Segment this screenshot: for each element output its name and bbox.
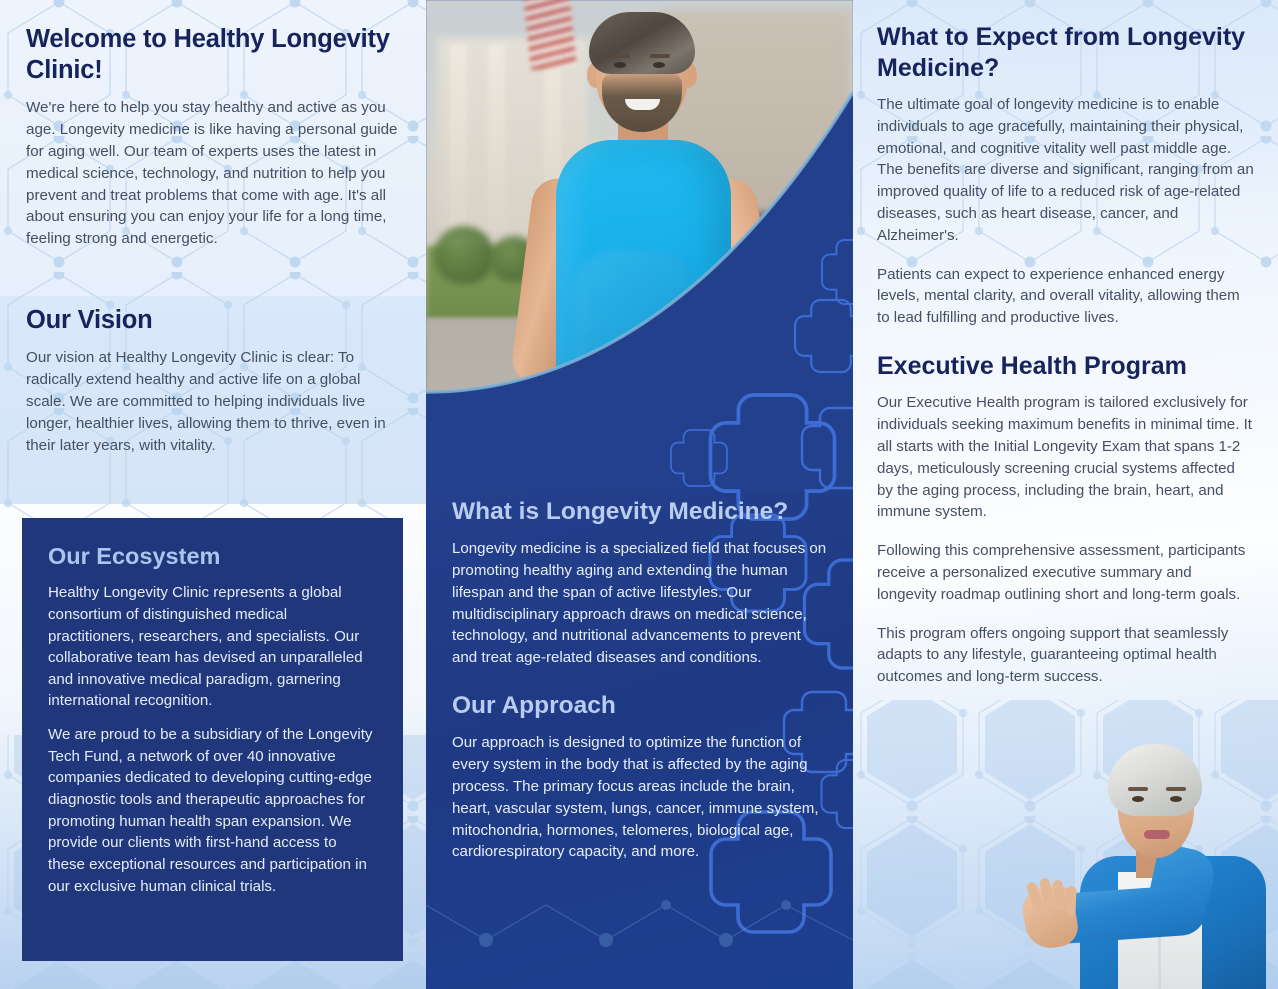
ecosystem-paragraph-2: We are proud to be a subsidiary of the L…: [48, 724, 377, 897]
woman-hair: [1108, 744, 1202, 816]
vision-body: Our vision at Healthy Longevity Clinic i…: [26, 347, 400, 457]
curved-photo-divider: [426, 0, 853, 520]
what-is-longevity-body: Longevity medicine is a specialized fiel…: [452, 538, 827, 669]
vision-heading: Our Vision: [26, 305, 400, 336]
what-is-longevity-heading: What is Longevity Medicine?: [452, 497, 827, 527]
executive-health-paragraph-1: Our Executive Health program is tailored…: [877, 392, 1254, 523]
executive-health-heading: Executive Health Program: [877, 351, 1254, 382]
executive-health-paragraph-3: This program offers ongoing support that…: [877, 623, 1254, 688]
woman-finger: [1052, 880, 1065, 911]
ecosystem-heading: Our Ecosystem: [48, 542, 377, 570]
what-to-expect-paragraph-2: Patients can expect to experience enhanc…: [877, 264, 1254, 329]
woman-eye: [1132, 796, 1144, 802]
panel-left: Welcome to Healthy Longevity Clinic! We'…: [0, 0, 426, 989]
what-to-expect-heading: What to Expect from Longevity Medicine?: [877, 22, 1254, 83]
senior-woman-photo: [1022, 744, 1278, 989]
ecosystem-paragraph-1: Healthy Longevity Clinic represents a gl…: [48, 582, 377, 712]
woman-lips: [1144, 830, 1170, 839]
panel-right: What to Expect from Longevity Medicine? …: [853, 0, 1278, 989]
section-welcome: Welcome to Healthy Longevity Clinic! We'…: [0, 0, 426, 250]
executive-health-paragraph-2: Following this comprehensive assessment,…: [877, 540, 1254, 605]
section-ecosystem-card: Our Ecosystem Healthy Longevity Clinic r…: [22, 518, 403, 961]
woman-eye: [1170, 796, 1182, 802]
section-right-content: What to Expect from Longevity Medicine? …: [853, 0, 1278, 688]
brochure-page: Welcome to Healthy Longevity Clinic! We'…: [0, 0, 1278, 989]
woman-eyebrow: [1166, 787, 1186, 791]
our-approach-heading: Our Approach: [452, 691, 827, 721]
what-to-expect-paragraph-1: The ultimate goal of longevity medicine …: [877, 94, 1254, 247]
our-approach-body: Our approach is designed to optimize the…: [452, 732, 827, 863]
panel-center: What is Longevity Medicine? Longevity me…: [426, 0, 853, 989]
center-text-block: What is Longevity Medicine? Longevity me…: [426, 497, 853, 863]
welcome-body: We're here to help you stay healthy and …: [26, 97, 400, 251]
woman-eyebrow: [1128, 787, 1148, 791]
woman-finger: [1065, 886, 1076, 916]
welcome-heading: Welcome to Healthy Longevity Clinic!: [26, 24, 400, 86]
section-vision: Our Vision Our vision at Healthy Longevi…: [0, 305, 426, 457]
